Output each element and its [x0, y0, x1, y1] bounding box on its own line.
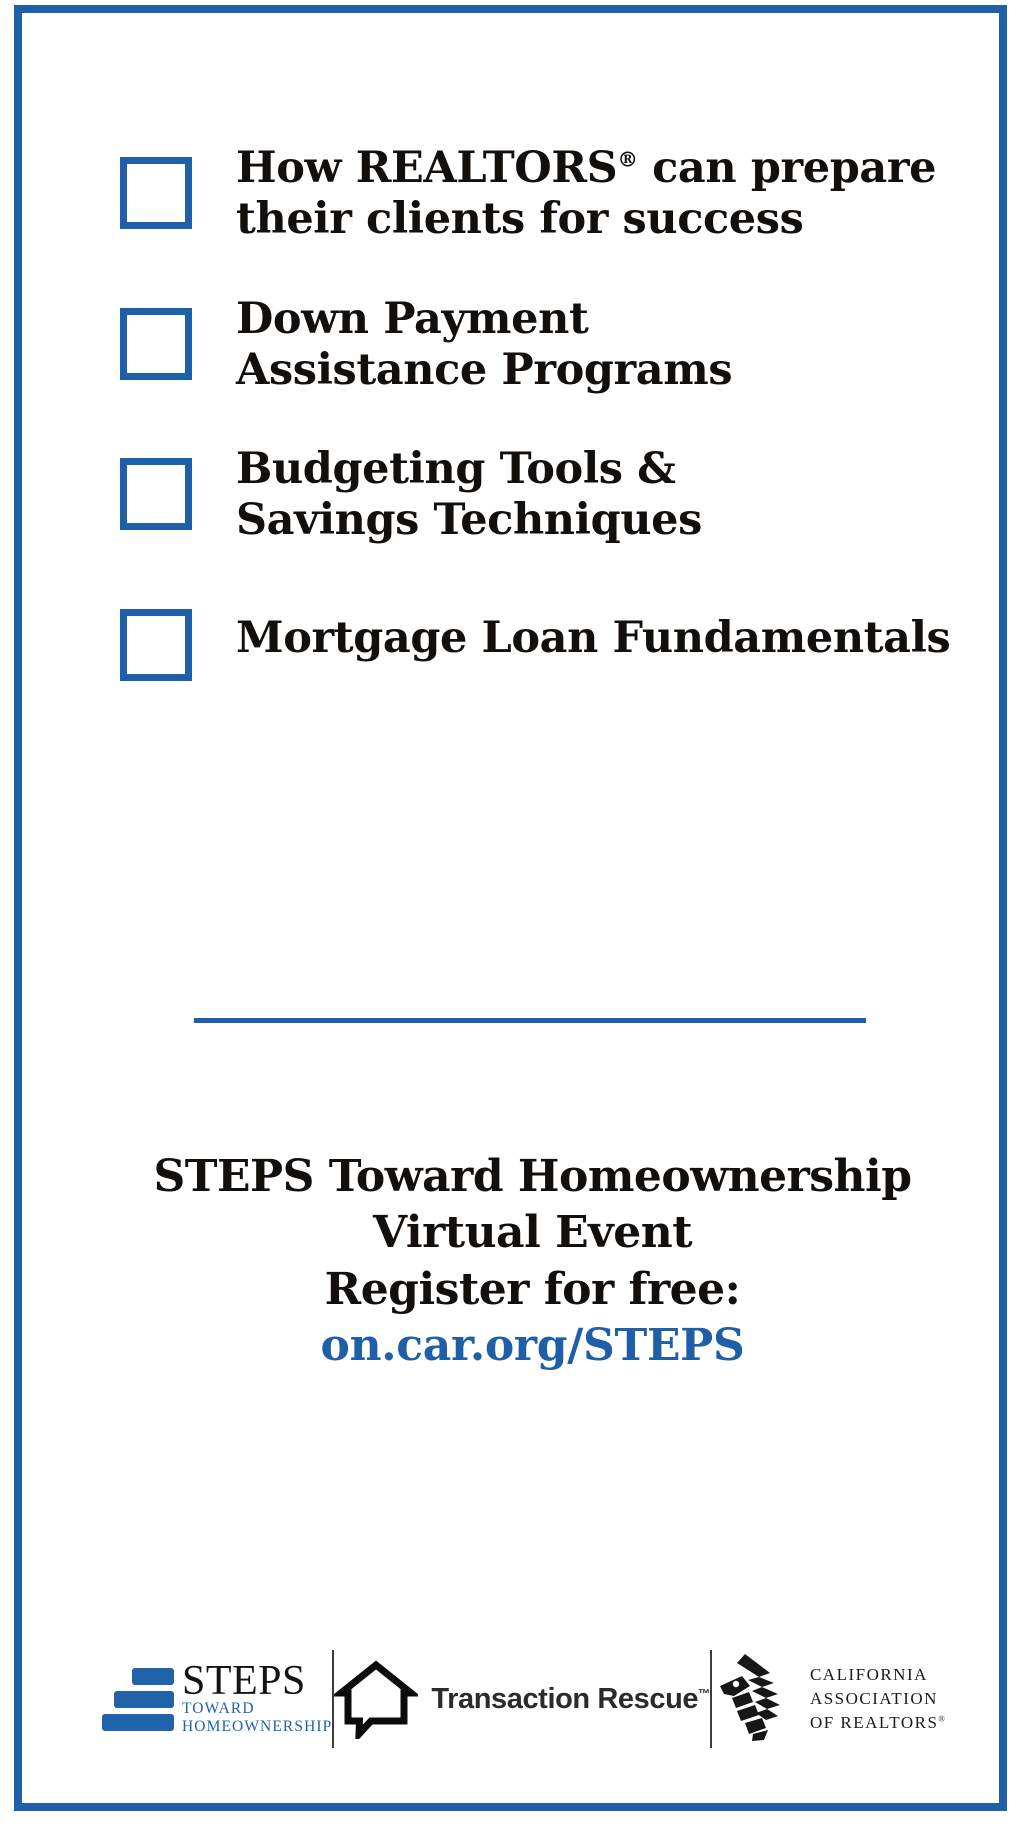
checklist-item-text-line2: Assistance Programs	[236, 345, 732, 395]
poster-border-frame: How REALTORS® can preparetheir clients f…	[14, 5, 1007, 1811]
checklist-item-label: Budgeting Tools &Savings Techniques	[236, 444, 702, 545]
trademark-icon: ™	[698, 1686, 710, 1700]
checklist-item-text-a: Mortgage Loan Fundamentals	[236, 613, 950, 663]
car-wordmark: CALIFORNIA ASSOCIATION OF REALTORS®	[810, 1663, 946, 1735]
checkbox-icon[interactable]	[120, 157, 192, 229]
steps-logo-wordmark: STEPS	[182, 1662, 332, 1701]
house-speech-bubble-icon	[334, 1655, 418, 1744]
car-line2: ASSOCIATION	[810, 1689, 938, 1708]
checklist-item-label: Down PaymentAssistance Programs	[236, 294, 732, 395]
car-bear-mark-icon	[712, 1650, 796, 1749]
event-title-line1: STEPS Toward Homeownership	[153, 1151, 911, 1202]
checklist-item-text-a: Down Payment	[236, 294, 588, 344]
event-register-prompt: Register for free:	[325, 1264, 741, 1315]
horizontal-divider	[194, 1018, 866, 1023]
checklist-item-text-line2: their clients for success	[236, 194, 803, 244]
checklist-item[interactable]: Down PaymentAssistance Programs	[120, 294, 960, 395]
checklist-item[interactable]: Mortgage Loan Fundamentals	[120, 603, 960, 681]
car-line3: OF REALTORS	[810, 1713, 938, 1732]
checkbox-icon[interactable]	[120, 308, 192, 380]
checklist-item-label: How REALTORS® can preparetheir clients f…	[236, 143, 936, 244]
footer-logo-bar: STEPS TOWARD HOMEOWNERSHIP Transaction R…	[102, 1639, 892, 1759]
registration-url-link[interactable]: on.car.org/STEPS	[22, 1318, 1021, 1374]
registered-trademark-icon: ®	[938, 1713, 946, 1723]
checklist-item-text-a: How REALTORS	[236, 143, 617, 193]
checkbox-icon[interactable]	[120, 458, 192, 530]
checklist-item-text-b: can prepare	[638, 143, 936, 193]
car-line1: CALIFORNIA	[810, 1665, 928, 1684]
event-title-line2: Virtual Event	[373, 1207, 692, 1258]
transaction-rescue-wordmark: Transaction Rescue™	[431, 1683, 710, 1716]
checklist-item-text-a: Budgeting Tools &	[236, 444, 676, 494]
checkbox-icon[interactable]	[120, 609, 192, 681]
checklist-item-label: Mortgage Loan Fundamentals	[236, 603, 950, 664]
checklist-item[interactable]: Budgeting Tools &Savings Techniques	[120, 444, 960, 545]
transaction-rescue-logo[interactable]: Transaction Rescue™	[334, 1644, 710, 1754]
checklist-item[interactable]: How REALTORS® can preparetheir clients f…	[120, 143, 960, 244]
transaction-rescue-name: Transaction Rescue	[431, 1683, 698, 1715]
registered-trademark-icon: ®	[617, 148, 637, 172]
steps-logo-tagline-line2: HOMEOWNERSHIP	[182, 1718, 332, 1736]
car-logo[interactable]: CALIFORNIA ASSOCIATION OF REALTORS®	[712, 1644, 946, 1754]
steps-stairs-icon	[102, 1668, 174, 1731]
poster-canvas: How REALTORS® can preparetheir clients f…	[0, 0, 1021, 1827]
checklist-item-text-line2: Savings Techniques	[236, 495, 702, 545]
checklist: How REALTORS® can preparetheir clients f…	[120, 143, 960, 681]
event-info-block: STEPS Toward Homeownership Virtual Event…	[22, 1149, 1021, 1374]
steps-logo[interactable]: STEPS TOWARD HOMEOWNERSHIP	[102, 1644, 332, 1754]
